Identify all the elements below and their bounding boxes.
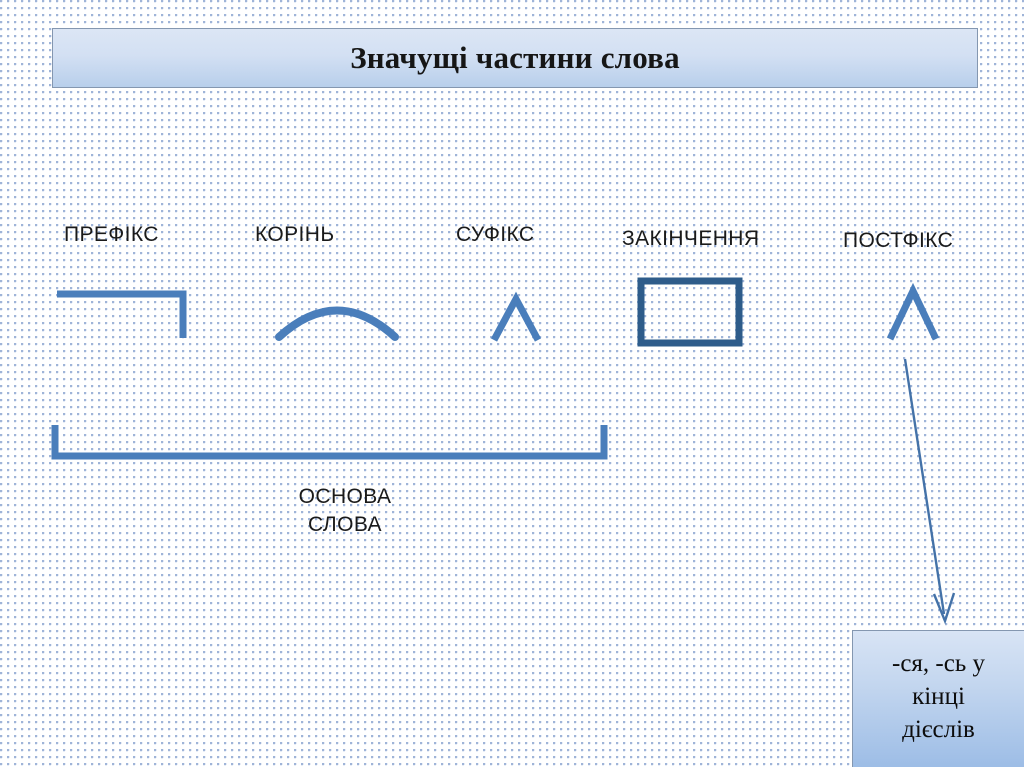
postfix-note-line3: дієслів: [892, 713, 985, 746]
stem-label-line1: ОСНОВА: [245, 483, 445, 511]
stem-label-line2: СЛОВА: [245, 511, 445, 539]
stem-bracket-icon: [55, 425, 604, 456]
label-root: КОРІНЬ: [255, 223, 335, 247]
root-arc-icon: [279, 311, 395, 338]
postfix-note-text: -ся, -сь у кінці дієслів: [892, 647, 985, 746]
postfix-caret-icon: [890, 291, 936, 339]
label-ending: ЗАКІНЧЕННЯ: [622, 227, 759, 251]
slide-canvas: Значущі частини слова ПРЕФІКС КОРІНЬ СУФ…: [0, 0, 1024, 767]
postfix-note-line1: -ся, -сь у: [892, 647, 985, 680]
ending-square-icon: [641, 281, 739, 343]
prefix-bracket-icon: [57, 294, 183, 338]
suffix-caret-icon: [494, 299, 538, 340]
postfix-note-line2: кінці: [892, 680, 985, 713]
label-prefix: ПРЕФІКС: [64, 223, 159, 247]
postfix-to-note-arrow-icon: [905, 359, 954, 621]
label-postfix: ПОСТФІКС: [843, 229, 953, 253]
stem-label-group: ОСНОВА СЛОВА: [245, 483, 445, 539]
postfix-note-box: -ся, -сь у кінці дієслів: [852, 630, 1024, 767]
title-banner: Значущі частини слова: [52, 28, 978, 88]
label-suffix: СУФІКС: [456, 223, 534, 247]
page-title: Значущі частини слова: [350, 40, 680, 76]
